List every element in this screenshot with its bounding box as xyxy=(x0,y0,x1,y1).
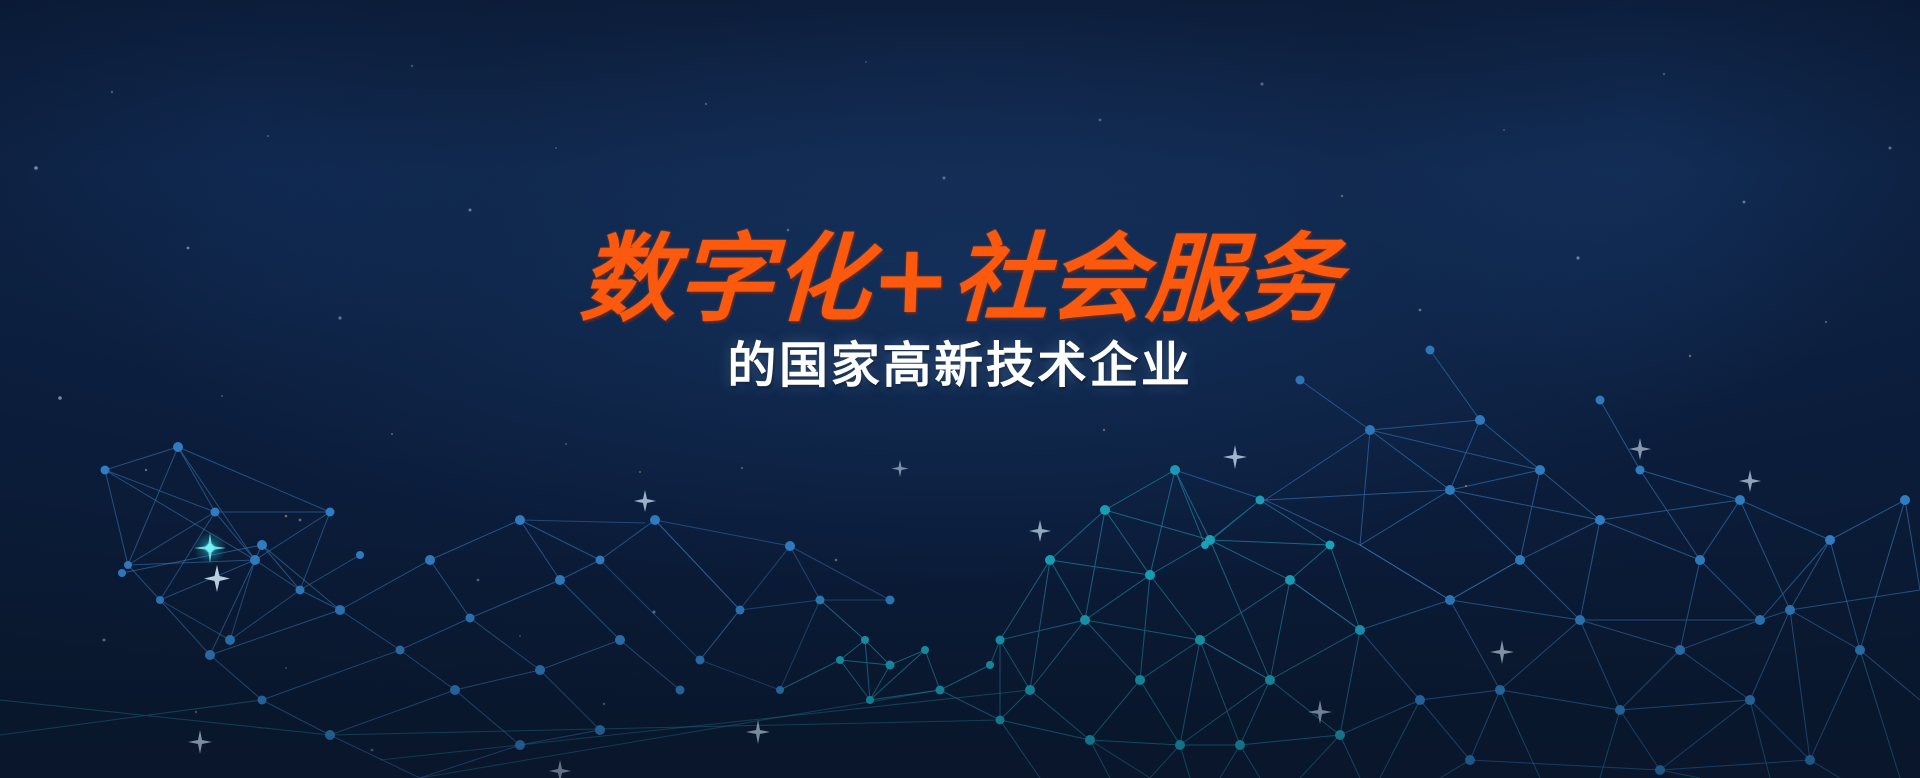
hero-banner: 数字化+社会服务 的国家高新技术企业 xyxy=(0,0,1920,778)
page-title: 数字化+社会服务 xyxy=(0,228,1920,332)
page-subtitle: 的国家高新技术企业 xyxy=(0,336,1920,395)
